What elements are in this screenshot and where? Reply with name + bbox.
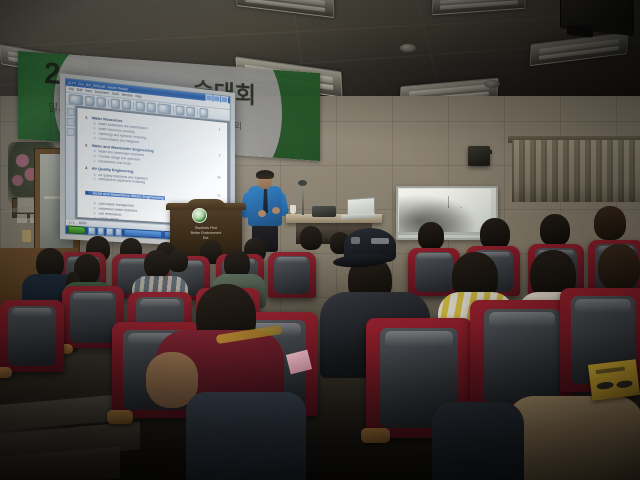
audience-head <box>144 250 170 278</box>
ceiling-light-fixture <box>529 32 628 66</box>
yellow-product-box[interactable] <box>588 359 640 401</box>
seat-armrest <box>361 428 391 442</box>
bookmarks-icon[interactable] <box>66 108 74 117</box>
audience-head <box>594 206 626 240</box>
menu-item-view[interactable]: View <box>85 89 92 94</box>
audience-trousers <box>506 396 640 480</box>
auditorium-seat[interactable] <box>0 300 64 372</box>
toolbar-separator <box>108 99 109 107</box>
lectern-arch <box>186 199 226 209</box>
smoke-detector-icon <box>400 44 416 52</box>
open-icon[interactable] <box>69 93 83 104</box>
menu-item-edit[interactable]: Edit <box>77 88 82 93</box>
toolbar-separator <box>173 105 174 113</box>
menu-item-file[interactable]: File <box>69 87 74 92</box>
toc-page-number: 7 <box>219 155 221 158</box>
university-emblem-icon <box>192 208 207 223</box>
toc-page-number: 1 <box>219 129 221 132</box>
folder-icon[interactable] <box>106 228 113 236</box>
print-icon[interactable] <box>85 95 95 106</box>
paper-cup <box>290 205 296 214</box>
menu-item-tools[interactable]: Tools <box>112 92 119 97</box>
audience-jeans <box>186 392 306 480</box>
toc-section-number: 4. <box>86 191 93 196</box>
zoom-in-icon[interactable] <box>147 102 156 113</box>
smoke-detector-icon <box>484 80 500 88</box>
box-graphic <box>596 381 614 390</box>
seat-armrest <box>0 367 12 379</box>
wall-outlet <box>22 230 31 242</box>
desk-projector-unit <box>312 206 336 217</box>
toc-section-number: 3. <box>85 166 92 171</box>
ceiling-light-fixture <box>432 0 527 15</box>
speaker-bracket <box>486 150 492 154</box>
attachments-icon[interactable] <box>66 128 74 137</box>
audience-head <box>540 214 570 246</box>
presenter-hair <box>256 170 274 179</box>
snapshot-icon[interactable] <box>122 99 131 110</box>
zoom-level-icon[interactable] <box>158 103 172 114</box>
cap-side-logo-icon <box>351 237 359 244</box>
rotate-icon[interactable] <box>186 106 195 116</box>
fit-page-icon[interactable] <box>176 105 185 115</box>
start-button[interactable] <box>68 225 86 234</box>
microphone-icon <box>298 180 307 186</box>
pages-icon[interactable] <box>66 118 74 127</box>
audience-head <box>300 226 322 250</box>
microphone-stand <box>302 183 304 215</box>
audience-head <box>168 250 188 272</box>
select-tool-icon[interactable] <box>111 98 120 109</box>
toc-section-heading-selected[interactable]: 4.Solid and Hazardous Waste Engineering <box>85 191 164 201</box>
toc-page-number: 14 <box>217 177 220 180</box>
browser-icon[interactable] <box>88 227 95 235</box>
toc-section-number: 1. <box>85 115 92 120</box>
menu-item-document[interactable]: Document <box>95 90 109 95</box>
toolbar-separator <box>197 108 198 116</box>
toc-section-title: Solid and Hazardous Waste Engineering <box>93 191 164 200</box>
zoom-out-icon[interactable] <box>136 101 145 112</box>
toc-item-text: Site remediation <box>98 212 121 217</box>
baseball-cap <box>344 228 396 262</box>
menu-item-window[interactable]: Window <box>122 93 133 98</box>
toc-section-number: 2. <box>85 143 92 148</box>
whiteboard-shadow <box>399 189 491 233</box>
box-graphic <box>616 380 633 389</box>
seat-armrest <box>107 410 133 423</box>
find-icon[interactable] <box>199 107 208 117</box>
menu-item-help[interactable]: Help <box>135 94 141 99</box>
page-indicator: 1 / 1 <box>69 221 75 225</box>
whiteboard-marker-tray <box>398 232 492 235</box>
auditorium-seat[interactable] <box>268 252 316 298</box>
wall-switch[interactable] <box>17 214 27 223</box>
cap-logo-icon <box>371 238 389 243</box>
lectern-text-block: Students First Better Environment Est. <box>176 226 236 242</box>
wall-speaker-icon <box>468 146 490 166</box>
toolbar-separator <box>133 101 134 109</box>
toc-page-number: 21 <box>217 194 220 198</box>
zoom-indicator: 100% <box>79 221 87 225</box>
ceiling-mounted-projector <box>560 0 634 36</box>
ceiling-light-fixture <box>236 0 335 18</box>
auditorium-presentation-photo: 2 술대회 일시 주최 기관명 외 [1] PT_Env_Net_2008.pd… <box>0 0 640 480</box>
presenter-right-hand <box>272 207 280 214</box>
box-label <box>595 366 625 374</box>
audience-jeans <box>432 402 524 480</box>
media-icon[interactable] <box>115 228 122 236</box>
audience-head <box>598 244 640 290</box>
presenter-left-hand <box>258 210 266 217</box>
email-icon[interactable] <box>97 96 106 107</box>
audience-head <box>418 222 444 250</box>
mail-icon[interactable] <box>97 227 104 235</box>
navigation-pane[interactable] <box>66 105 76 219</box>
banner-right-graphic <box>250 68 320 161</box>
banner-number: 2 <box>44 57 60 92</box>
window-curtain <box>512 140 640 202</box>
